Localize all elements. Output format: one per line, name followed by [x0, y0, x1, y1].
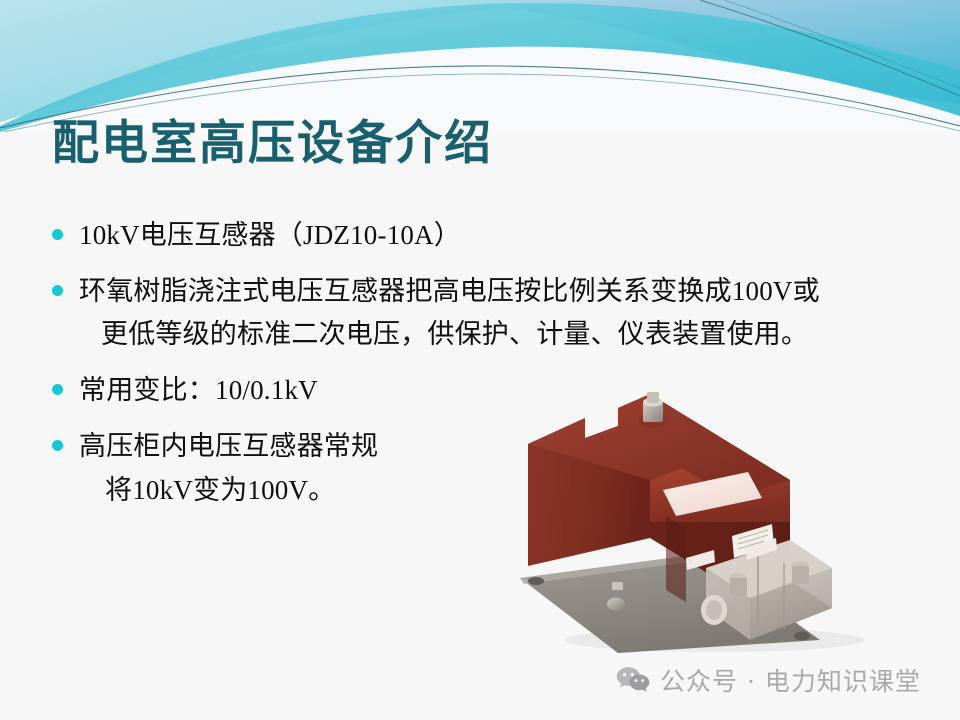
terminal-stud-1-body	[730, 578, 747, 596]
decorative-wave-banner	[0, 0, 960, 132]
description-line-2: 更低等级的标准二次电压，供保护、计量、仪表装置使用。	[79, 313, 922, 357]
terminal-stud-2-body	[792, 566, 809, 584]
page-title: 配电室高压设备介绍	[52, 118, 493, 170]
wechat-bubble-front	[630, 675, 650, 692]
bullet-text-model: 10kV电压互感器（JDZ10-10A）	[79, 214, 922, 258]
hv-terminal-stud	[647, 392, 659, 403]
wechat-eye-3	[635, 679, 638, 682]
slide-canvas: 配电室高压设备介绍 10kV电压互感器（JDZ10-10A） 环氧树脂浇注式电压…	[0, 0, 960, 720]
banner-waves	[0, 0, 960, 132]
bullet-item-description: 环氧树脂浇注式电压互感器把高电压按比例关系变换成100V或 更低等级的标准二次电…	[52, 270, 922, 357]
earth-bolt-tag	[612, 582, 623, 590]
voltage-transformer-illustration	[500, 372, 960, 672]
voltage-transformer-photo	[500, 372, 960, 672]
bullet-text-description: 环氧树脂浇注式电压互感器把高电压按比例关系变换成100V或 更低等级的标准二次电…	[79, 270, 922, 357]
bullet-item-model: 10kV电压互感器（JDZ10-10A）	[52, 214, 922, 258]
earth-bolt	[607, 598, 625, 611]
wechat-icon	[616, 666, 650, 694]
base-mount-hole-right	[794, 632, 810, 641]
description-line-1: 环氧树脂浇注式电压互感器把高电压按比例关系变换成100V或	[79, 276, 820, 306]
base-mount-hole-left	[528, 577, 544, 585]
bullet-dot-icon	[52, 440, 63, 451]
body-rib	[666, 516, 686, 602]
watermark: 公众号 · 电力知识课堂	[616, 662, 921, 698]
wechat-eye-1	[623, 673, 626, 676]
bullet-dot-icon	[52, 384, 63, 395]
bullet-dot-icon	[52, 229, 63, 240]
wechat-eye-2	[631, 673, 634, 676]
terminal-bushing-inner	[706, 600, 722, 620]
bullet-dot-icon	[52, 285, 63, 296]
usage-line-1: 高压柜内电压互感器常规	[79, 431, 378, 461]
wechat-eye-4	[641, 679, 644, 682]
watermark-text: 公众号 · 电力知识课堂	[660, 662, 921, 698]
